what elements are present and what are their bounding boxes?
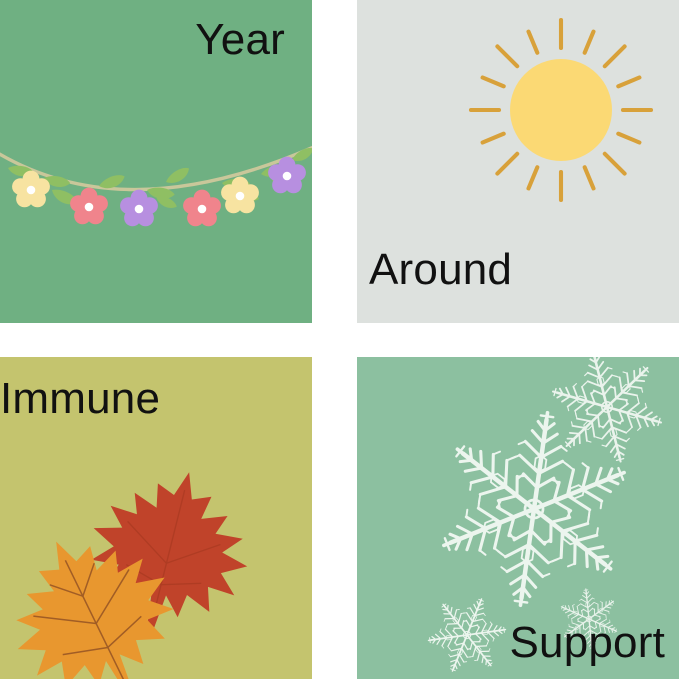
panel-label-summer: Around [369,248,512,292]
panel-spring[interactable]: Year [0,0,312,323]
sun-disc [510,59,612,161]
garland-leaves [7,146,312,212]
panel-winter[interactable]: Support [357,357,679,679]
panel-autumn[interactable]: Immune [0,357,312,679]
panel-label-winter: Support [509,621,665,665]
seasons-collage: Year [0,0,679,679]
panel-label-spring: Year [195,18,285,62]
snowflake-medium [538,357,676,475]
panel-summer[interactable]: Around [357,0,679,323]
panel-label-autumn: Immune [0,377,160,421]
snowflake-small-left [416,584,519,679]
